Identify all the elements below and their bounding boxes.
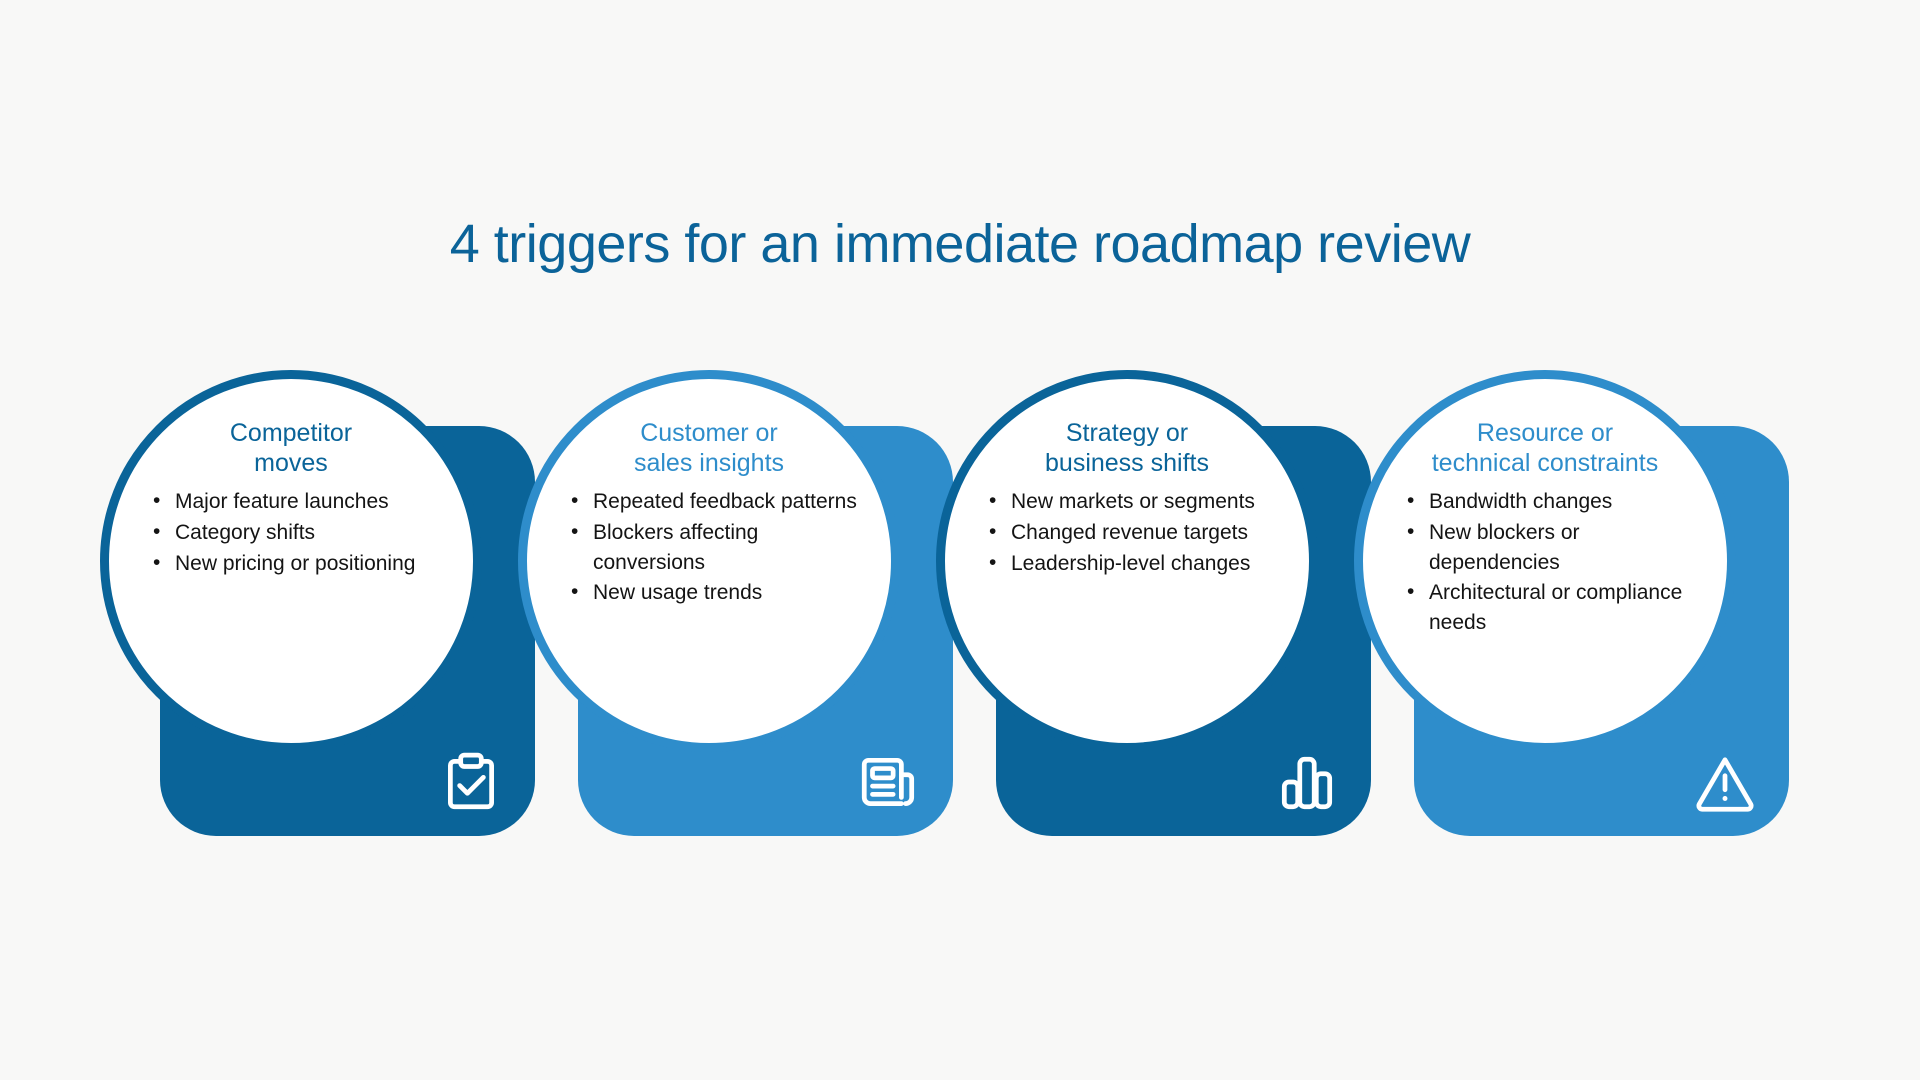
card-title-line2-3: business shifts — [1045, 449, 1209, 477]
list-item: Blockers affecting conversions — [571, 518, 869, 578]
newspaper-icon — [856, 750, 922, 816]
card-bubble-4: Resource or technical constraints Bandwi… — [1354, 370, 1736, 752]
trigger-card-1[interactable]: Competitor moves Major feature launches … — [100, 370, 540, 850]
list-item: Repeated feedback patterns — [571, 487, 869, 517]
trigger-cards-row: Competitor moves Major feature launches … — [100, 370, 1860, 850]
list-item: Architectural or compliance needs — [1407, 578, 1705, 638]
card-bubble-2: Customer or sales insights Repeated feed… — [518, 370, 900, 752]
card-title-2: Customer or sales insights — [549, 419, 869, 478]
warning-triangle-icon — [1692, 750, 1758, 816]
card-title-line2-2: sales insights — [634, 449, 784, 477]
card-title-line2-4: technical constraints — [1432, 449, 1659, 477]
list-item: New blockers or dependencies — [1407, 518, 1705, 578]
card-title-line1-3: Strategy or — [1066, 419, 1188, 447]
list-item: New markets or segments — [989, 487, 1287, 517]
card-bullet-list-3: New markets or segments Changed revenue … — [967, 487, 1287, 579]
card-title-line2-1: moves — [254, 449, 328, 477]
infographic-canvas: 4 triggers for an immediate roadmap revi… — [0, 0, 1920, 1080]
clipboard-check-icon — [438, 750, 504, 816]
card-title-1: Competitor moves — [131, 419, 451, 478]
card-title-line1-4: Resource or — [1477, 419, 1613, 447]
trigger-card-3[interactable]: Strategy or business shifts New markets … — [936, 370, 1376, 850]
trigger-card-4[interactable]: Resource or technical constraints Bandwi… — [1354, 370, 1794, 850]
card-title-3: Strategy or business shifts — [967, 419, 1287, 478]
card-title-line1-1: Competitor — [230, 419, 352, 447]
card-title-line1-2: Customer or — [640, 419, 778, 447]
trigger-card-2[interactable]: Customer or sales insights Repeated feed… — [518, 370, 958, 850]
bar-chart-icon — [1274, 750, 1340, 816]
list-item: Major feature launches — [153, 487, 451, 517]
list-item: New pricing or positioning — [153, 549, 451, 579]
list-item: Changed revenue targets — [989, 518, 1287, 548]
page-title: 4 triggers for an immediate roadmap revi… — [0, 213, 1920, 275]
card-bubble-3: Strategy or business shifts New markets … — [936, 370, 1318, 752]
list-item: Category shifts — [153, 518, 451, 548]
list-item: New usage trends — [571, 578, 869, 608]
card-bullet-list-4: Bandwidth changes New blockers or depend… — [1385, 487, 1705, 639]
card-bullet-list-1: Major feature launches Category shifts N… — [131, 487, 451, 579]
list-item: Leadership-level changes — [989, 549, 1287, 579]
card-bullet-list-2: Repeated feedback patterns Blockers affe… — [549, 487, 869, 609]
card-bubble-1: Competitor moves Major feature launches … — [100, 370, 482, 752]
card-title-4: Resource or technical constraints — [1385, 419, 1705, 478]
list-item: Bandwidth changes — [1407, 487, 1705, 517]
